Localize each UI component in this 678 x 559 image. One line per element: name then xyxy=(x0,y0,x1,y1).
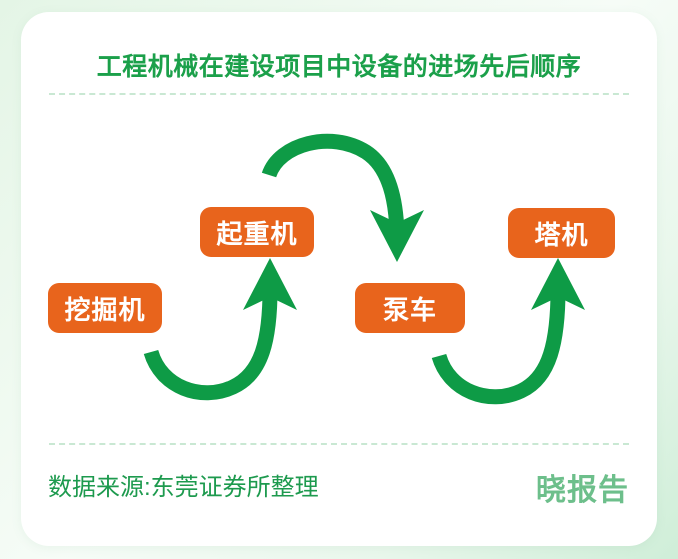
node-excavator[interactable]: 挖掘机 xyxy=(48,283,162,333)
node-crane[interactable]: 起重机 xyxy=(200,207,314,257)
data-source-label: 数据来源:东莞证券所整理 xyxy=(48,467,319,502)
arrow-excavator-to-crane xyxy=(151,258,297,393)
node-pump-truck[interactable]: 泵车 xyxy=(355,283,465,333)
page-canvas: 工程机械在建设项目中设备的进场先后顺序 xyxy=(0,0,678,559)
brand-logo: 晓报告 xyxy=(536,465,629,509)
info-card: 工程机械在建设项目中设备的进场先后顺序 xyxy=(21,12,657,546)
card-footer: 数据来源:东莞证券所整理 晓报告 xyxy=(21,467,657,527)
node-tower-crane[interactable]: 塔机 xyxy=(508,208,615,258)
